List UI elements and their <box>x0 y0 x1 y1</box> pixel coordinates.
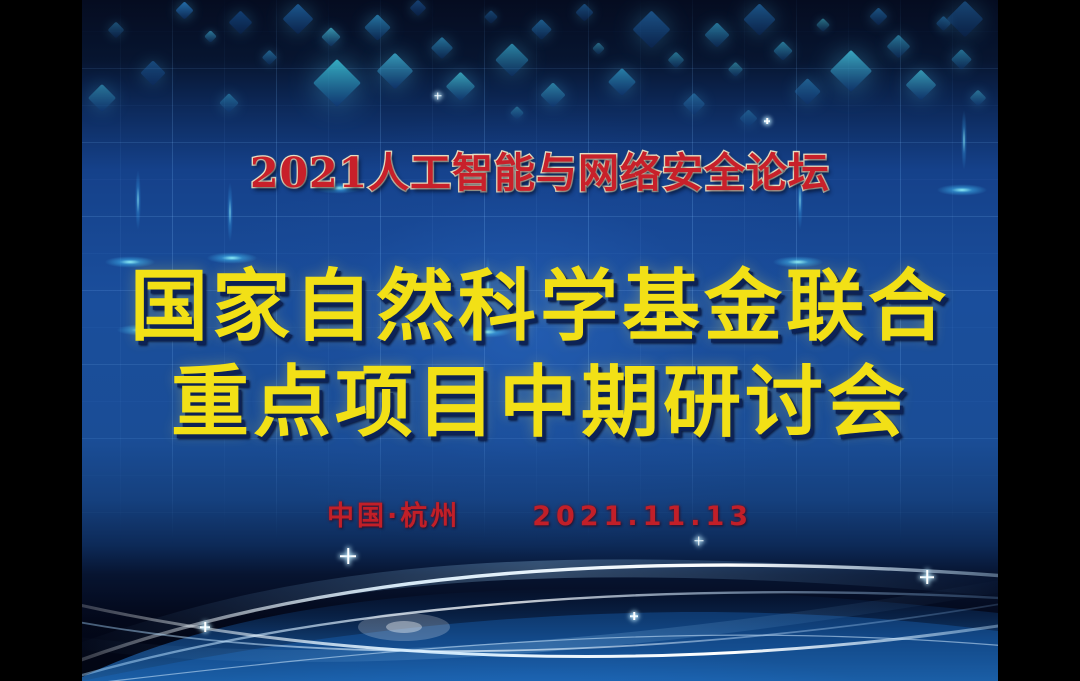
sparkle-star <box>920 570 934 584</box>
diamond-shape <box>575 3 593 21</box>
diamond-shape <box>531 19 552 40</box>
diamond-shape <box>484 10 498 24</box>
diamond-shape <box>728 62 744 78</box>
sparkle-star <box>694 536 703 545</box>
diamond-shape <box>704 22 729 47</box>
diamond-shape <box>219 93 239 113</box>
diamond-shape <box>739 109 757 127</box>
diamond-shape <box>282 3 313 34</box>
sparkle-star <box>764 118 770 124</box>
sparkle-star <box>200 622 210 632</box>
diamond-shape <box>321 27 341 47</box>
diamond-shape <box>446 72 476 102</box>
diamond-shape <box>140 60 165 85</box>
sparkle-star <box>434 92 441 99</box>
ribbon-glow <box>82 521 998 681</box>
diamond-shape <box>431 37 454 60</box>
event-location: 中国·杭州 <box>327 494 460 533</box>
main-title-line-1: 国家自然科学基金联合 <box>82 268 998 346</box>
diamond-shape <box>869 7 887 25</box>
diamond-shape <box>175 1 193 19</box>
diamond-shape <box>947 1 984 38</box>
diamond-shape <box>592 42 605 55</box>
diamond-shape <box>668 52 685 69</box>
diamond-shape <box>410 0 427 16</box>
diamond-shape <box>510 106 524 120</box>
diamond-shape <box>262 50 278 66</box>
diamond-shape <box>608 68 636 96</box>
diamond-shape <box>905 69 936 100</box>
diamond-shape <box>951 49 972 70</box>
diamond-shape <box>830 50 872 92</box>
diamond-shape <box>816 18 830 32</box>
conference-banner: 2021人工智能与网络安全论坛 国家自然科学基金联合 重点项目中期研讨会 中国·… <box>0 0 1080 681</box>
sparkle-star <box>340 548 356 564</box>
letterbox-right <box>998 0 1080 681</box>
diamond-shape <box>632 10 670 48</box>
diamond-shape <box>228 10 252 34</box>
diamond-shape <box>495 43 529 77</box>
text-stack: 2021人工智能与网络安全论坛 国家自然科学基金联合 重点项目中期研讨会 中国·… <box>82 0 998 681</box>
diamond-shape <box>743 3 776 36</box>
diamond-shape <box>936 16 952 32</box>
diamond-shape <box>970 90 987 107</box>
diamond-shape <box>773 41 793 61</box>
diamond-shape <box>540 82 565 107</box>
sparkle-star <box>630 612 638 620</box>
event-date: 2021.11.13 <box>532 501 753 532</box>
diamond-shape <box>88 84 116 112</box>
footer-row: 中国·杭州 2021.11.13 <box>82 494 998 533</box>
main-title-line-2: 重点项目中期研讨会 <box>82 364 998 442</box>
diamond-shape <box>108 22 125 39</box>
diamond-shape <box>377 53 414 90</box>
letterbox-left <box>0 0 82 681</box>
diamond-shape <box>364 14 391 41</box>
poster-artwork: 2021人工智能与网络安全论坛 国家自然科学基金联合 重点项目中期研讨会 中国·… <box>82 0 998 681</box>
diamond-shape <box>794 78 821 105</box>
diamond-shape <box>313 59 361 107</box>
forum-subtitle: 2021人工智能与网络安全论坛 <box>82 148 998 199</box>
diamond-shape <box>204 30 217 43</box>
diamond-shape <box>886 34 910 58</box>
diamond-shape <box>683 93 706 116</box>
